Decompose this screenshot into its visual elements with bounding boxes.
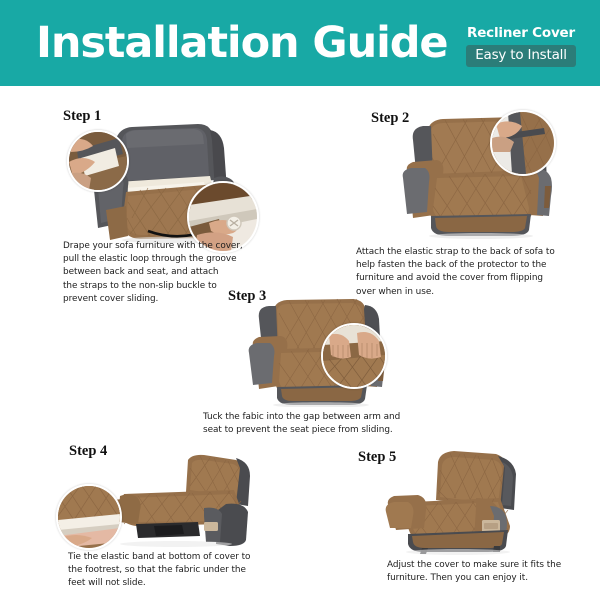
header-right-group: Recliner Cover Easy to Install xyxy=(460,25,582,67)
step-3-caption: Tuck the fabic into the gap between arm … xyxy=(203,411,431,437)
product-name-label: Recliner Cover xyxy=(460,25,582,41)
step-2-illustration xyxy=(395,112,575,240)
step-5-caption: Adjust the cover to make sure it fits th… xyxy=(387,559,597,585)
step-4-illustration xyxy=(58,452,278,552)
page-header: Installation Guide Recliner Cover Easy t… xyxy=(0,0,600,86)
inset-hand-attaching-strap xyxy=(490,110,556,176)
inset-elastic-band-footrest xyxy=(56,484,122,550)
inset-hand-pulling-elastic-loop xyxy=(67,130,129,192)
inset-hands-tucking-fabric xyxy=(321,323,387,389)
step-2-caption: Attach the elastic strap to the back of … xyxy=(356,246,578,299)
step-3-illustration xyxy=(243,295,403,407)
status-badge: Easy to Install xyxy=(466,45,576,67)
hands-tucking-fabric-photo xyxy=(323,325,385,387)
hand-pulling-loop-photo xyxy=(69,132,127,190)
page-title: Installation Guide xyxy=(36,17,447,69)
step-5-illustration xyxy=(378,448,568,556)
step-1-illustration xyxy=(70,118,300,243)
hand-attaching-strap-photo xyxy=(492,112,554,174)
step-4-caption: Tie the elastic band at bottom of cover … xyxy=(68,551,268,591)
recliner-finished-illustration xyxy=(378,448,568,556)
elastic-band-footrest-photo xyxy=(58,486,120,548)
